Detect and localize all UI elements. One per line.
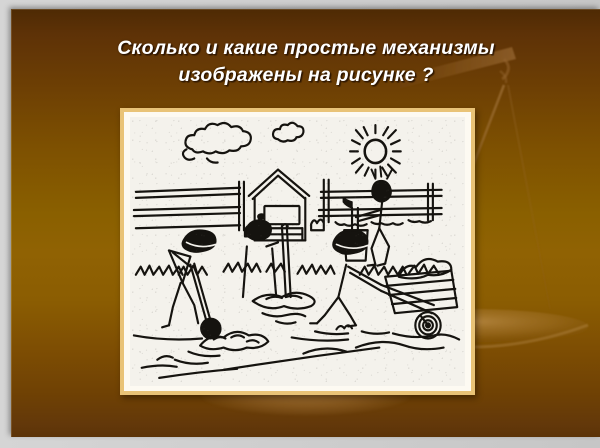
presentation-slide: Сколько и какие простые механизмы изобра… (11, 9, 600, 437)
illustration-canvas (130, 117, 465, 386)
slide-stage: Сколько и какие простые механизмы изобра… (0, 0, 600, 448)
illustration-frame[interactable] (120, 108, 475, 395)
slide-title: Сколько и какие простые механизмы изобра… (51, 35, 561, 89)
illustration-mat (124, 112, 471, 391)
